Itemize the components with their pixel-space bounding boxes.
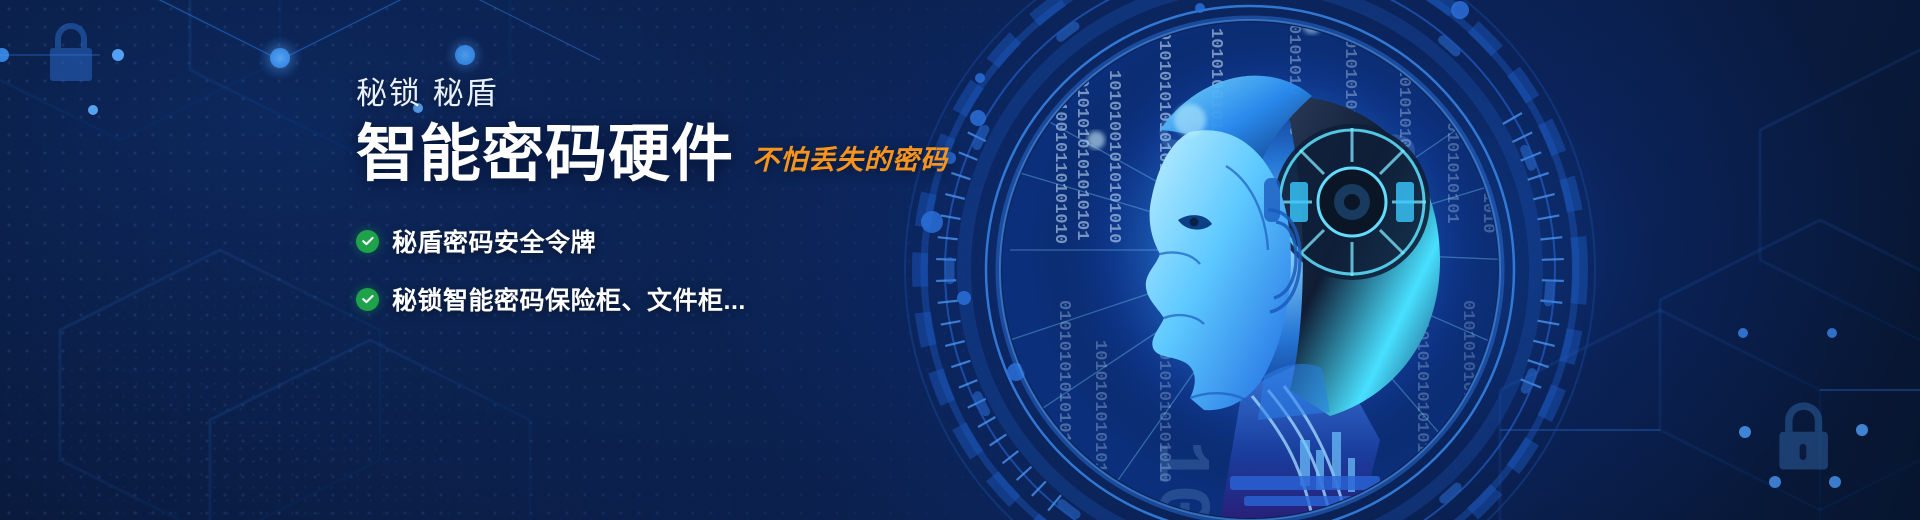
feature-list: 秘盾密码安全令牌 秘锁智能密码保险柜、文件柜... bbox=[356, 223, 976, 317]
banner-tagline: 不怕丢失的密码 bbox=[752, 138, 948, 177]
list-item-label: 秘盾密码安全令牌 bbox=[392, 223, 596, 259]
banner-copy: 秘锁 秘盾 智能密码硬件 不怕丢失的密码 秘盾密码安全令牌 bbox=[356, 78, 976, 339]
check-circle-icon bbox=[356, 230, 379, 253]
list-item: 秘锁智能密码保险柜、文件柜... bbox=[356, 281, 976, 317]
headline-row: 智能密码硬件 不怕丢失的密码 bbox=[356, 123, 976, 187]
ai-robot-head-icon: 10101010010110101010 0101010101010101010… bbox=[860, 0, 1640, 520]
banner-eyebrow: 秘锁 秘盾 bbox=[356, 78, 976, 109]
list-item-label: 秘锁智能密码保险柜、文件柜... bbox=[392, 281, 746, 317]
page-title: 智能密码硬件 bbox=[356, 123, 734, 187]
check-circle-icon bbox=[356, 288, 379, 311]
padlock-icon bbox=[1779, 406, 1828, 469]
list-item: 秘盾密码安全令牌 bbox=[356, 223, 976, 259]
svg-text:10101010101010: 10101010101010 bbox=[1090, 340, 1109, 483]
hero-banner: 10101010010110101010 0101010101010101010… bbox=[0, 0, 1920, 520]
svg-text:10101001010101010: 10101001010101010 bbox=[1104, 70, 1123, 243]
padlock-icon bbox=[50, 26, 92, 81]
